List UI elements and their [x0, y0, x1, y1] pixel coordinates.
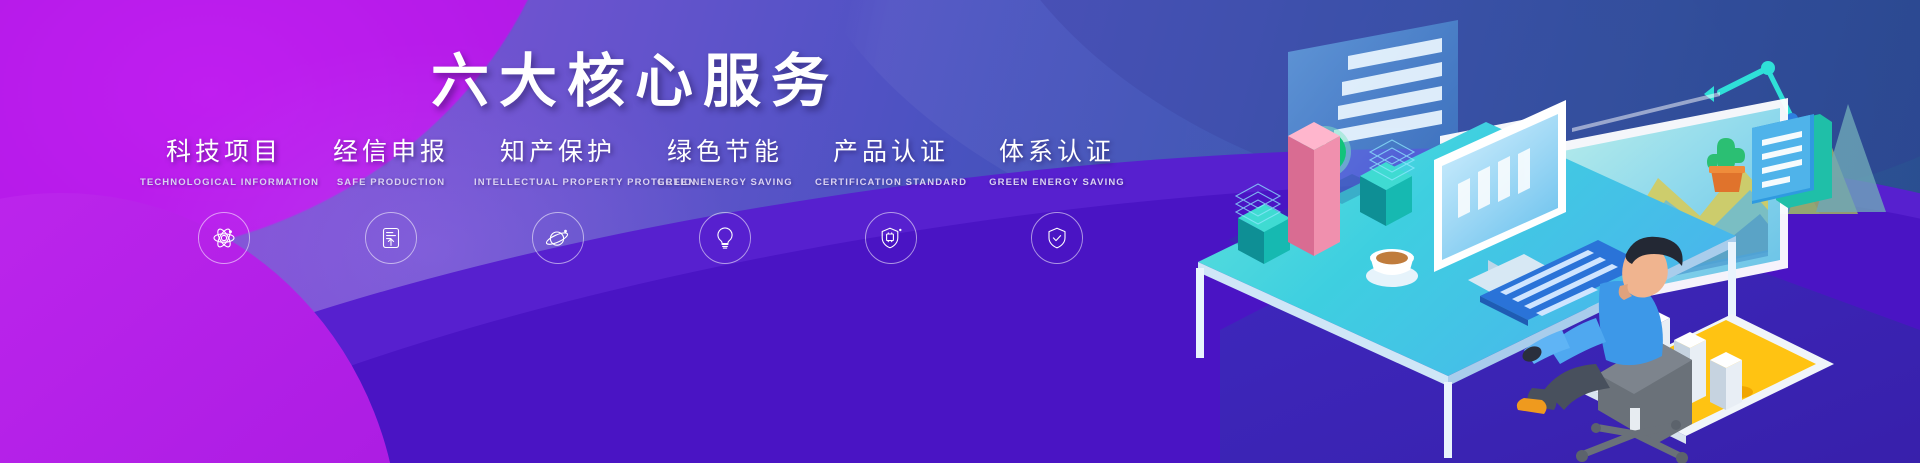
service-item-technological-information[interactable]: 科技项目 TECHNOLOGICAL INFORMATION	[140, 132, 308, 264]
service-item-certification-standard[interactable]: 产品认证 CERTIFICATION STANDARD	[808, 132, 974, 264]
service-title-cn: 知产保护	[474, 132, 642, 168]
service-item-safe-production[interactable]: 经信申报 SAFE PRODUCTION	[308, 132, 474, 264]
service-title-cn: 体系认证	[974, 132, 1140, 168]
service-title-en: CERTIFICATION STANDARD	[808, 177, 974, 188]
document-cards	[1752, 114, 1832, 208]
service-title-cn: 绿色节能	[642, 132, 808, 168]
atom-icon[interactable]	[198, 212, 250, 264]
service-title-en: GREEN ENERGY SAVING	[974, 177, 1140, 188]
page-title: 六大核心服务	[0, 34, 1270, 118]
service-item-intellectual-property-protection[interactable]: 知产保护 INTELLECTUAL PROPERTY PROTECTION	[474, 132, 642, 264]
document-upload-icon[interactable]	[365, 212, 417, 264]
service-banner: 六大核心服务 科技项目 TECHNOLOGICAL INFORMATION 经信…	[0, 0, 1920, 463]
service-title-cn: 产品认证	[808, 132, 974, 168]
service-title-en: TECHNOLOGICAL INFORMATION	[140, 177, 308, 188]
lightbulb-icon[interactable]	[699, 212, 751, 264]
coffee-cup	[1366, 249, 1418, 287]
planet-icon[interactable]	[532, 212, 584, 264]
shield-badge-icon[interactable]	[865, 212, 917, 264]
service-title-en: INTELLECTUAL PROPERTY PROTECTION	[474, 177, 642, 188]
service-item-green-energy-saving[interactable]: 绿色节能 GREEN ENERGY SAVING	[642, 132, 808, 264]
shield-check-icon[interactable]	[1031, 212, 1083, 264]
service-title-en: GREEN ENERGY SAVING	[642, 177, 808, 188]
service-title-en: SAFE PRODUCTION	[308, 177, 474, 188]
office-illustration	[1180, 0, 1920, 463]
service-title-cn: 经信申报	[308, 132, 474, 168]
service-item-system-certification[interactable]: 体系认证 GREEN ENERGY SAVING	[974, 132, 1140, 264]
service-list: 科技项目 TECHNOLOGICAL INFORMATION 经信申报 SAFE…	[140, 132, 1140, 264]
service-title-cn: 科技项目	[140, 132, 308, 168]
